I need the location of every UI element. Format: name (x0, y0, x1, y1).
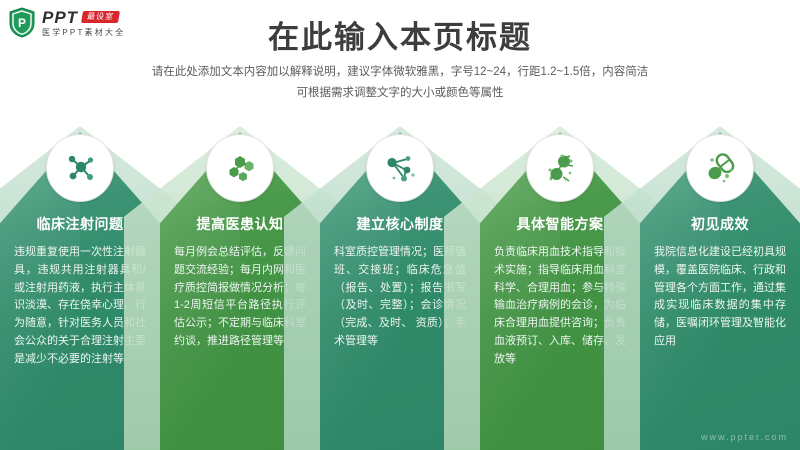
page-title: 在此输入本页标题 (0, 12, 800, 57)
page-subtitle: 请在此处添加文本内容加以解释说明，建议字体微软雅黑，字号12~24，行距1.2~… (0, 62, 800, 105)
column-body-5: 我院信息化建设已经初具规模，覆盖医院临床、行政和管理各个方面工作，通过集成实现临… (654, 244, 786, 351)
hexagon-cluster-icon (206, 134, 274, 202)
virus-cell-icon (526, 134, 594, 202)
molecule-icon (46, 134, 114, 202)
chevron-band: 临床注射问题 违规重复使用一次性注射器具，违规共用注射器具和/或注射用药液，执行… (0, 126, 800, 450)
subtitle-line-2: 可根据需求调整文字的大小或颜色等属性 (0, 83, 800, 104)
footer-watermark: www.ppter.com (701, 432, 788, 442)
slide-canvas: P PPT 最设室 医学PPT素材大全 在此输入本页标题 请在此处添加文本内容加… (0, 0, 800, 450)
network-share-icon (366, 134, 434, 202)
capsule-pill-icon (686, 134, 754, 202)
column-title-5: 初见成效 (640, 214, 800, 234)
column-5[interactable]: 初见成效 我院信息化建设已经初具规模，覆盖医院临床、行政和管理各个方面工作，通过… (640, 126, 800, 450)
subtitle-line-1: 请在此处添加文本内容加以解释说明，建议字体微软雅黑，字号12~24，行距1.2~… (0, 62, 800, 83)
